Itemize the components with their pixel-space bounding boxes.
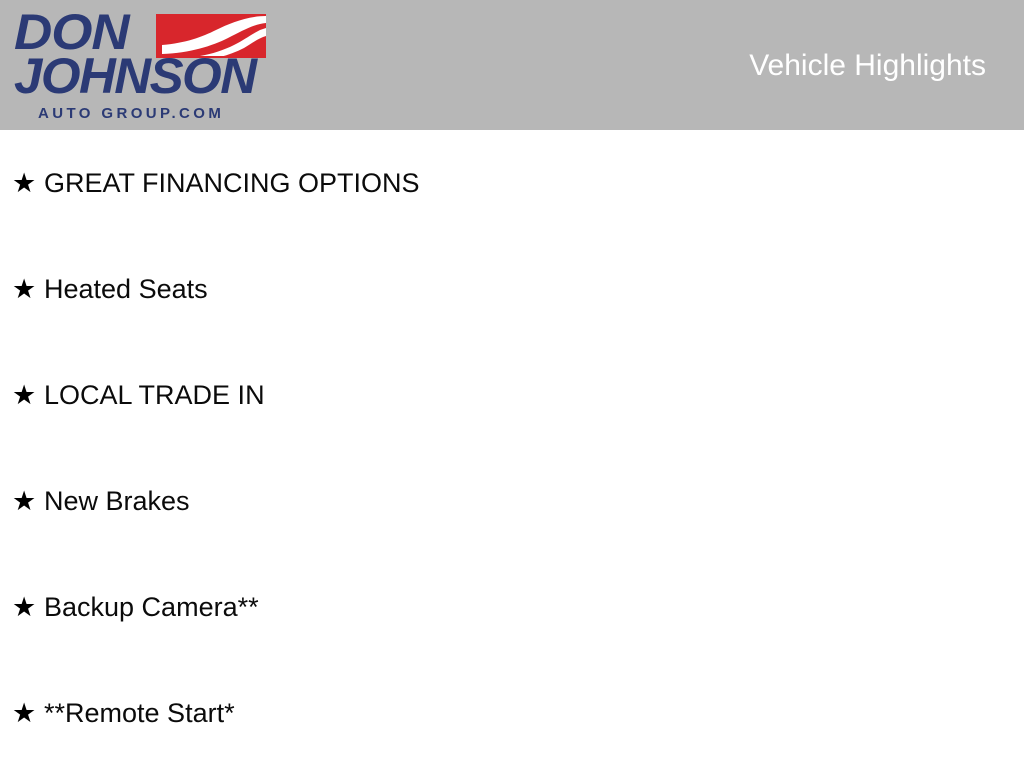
highlight-label: GREAT FINANCING OPTIONS — [44, 168, 420, 198]
highlight-label: New Brakes — [44, 486, 190, 516]
logo-text-autogroup: AUTO GROUP.COM — [38, 106, 224, 122]
highlight-label: Heated Seats — [44, 274, 208, 304]
swoosh-icon — [156, 14, 266, 58]
star-icon: ★ — [12, 274, 44, 304]
dealer-logo[interactable]: DON JOHNSON AUTO GROUP.COM — [14, 6, 266, 126]
vehicle-highlights-list: ★ GREAT FINANCING OPTIONS ★ Heated Seats… — [0, 130, 1024, 766]
star-icon: ★ — [12, 380, 44, 410]
star-icon: ★ — [12, 592, 44, 622]
star-icon: ★ — [12, 486, 44, 516]
list-item: ★ **Remote Start* — [0, 660, 1024, 766]
list-item: ★ New Brakes — [0, 448, 1024, 554]
list-item: ★ GREAT FINANCING OPTIONS — [0, 130, 1024, 236]
page-header: DON JOHNSON AUTO GROUP.COM Vehicle Highl… — [0, 0, 1024, 130]
star-icon: ★ — [12, 168, 44, 198]
list-item: ★ Heated Seats — [0, 236, 1024, 342]
page-title: Vehicle Highlights — [749, 49, 986, 83]
star-icon: ★ — [12, 698, 44, 728]
highlight-label: LOCAL TRADE IN — [44, 380, 265, 410]
highlight-label: **Remote Start* — [44, 698, 235, 728]
list-item: ★ Backup Camera** — [0, 554, 1024, 660]
highlight-label: Backup Camera** — [44, 592, 259, 622]
list-item: ★ LOCAL TRADE IN — [0, 342, 1024, 448]
